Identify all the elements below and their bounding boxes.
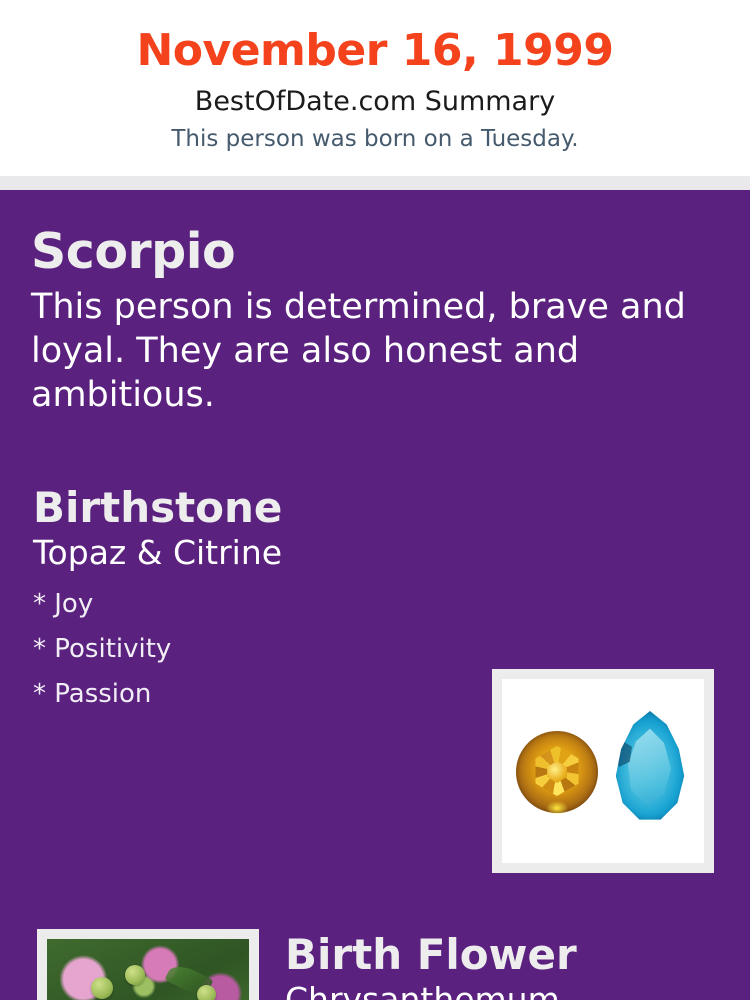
- birthstone-section: Birthstone Topaz & Citrine * Joy * Posit…: [33, 482, 463, 717]
- weekday-statement: This person was born on a Tuesday.: [0, 122, 750, 156]
- page-header: November 16, 1999 BestOfDate.com Summary…: [0, 0, 750, 176]
- flower-bud: [91, 977, 113, 999]
- flower-bud: [197, 985, 216, 1000]
- birthstone-traits-list: * Joy * Positivity * Passion: [33, 582, 463, 717]
- site-subtitle: BestOfDate.com Summary: [0, 82, 750, 122]
- list-item: * Positivity: [33, 627, 463, 672]
- list-item: * Joy: [33, 582, 463, 627]
- zodiac-sign-name: Scorpio: [31, 223, 721, 281]
- zodiac-section: Scorpio This person is determined, brave…: [31, 223, 721, 417]
- birth-flower-section: Birth Flower Chrysanthemum * Loyalty * H…: [285, 929, 725, 1000]
- zodiac-description: This person is determined, brave and loy…: [31, 285, 696, 417]
- birthstone-image-frame: [492, 669, 714, 873]
- flower-bud: [125, 965, 145, 985]
- birth-flower-name: Chrysanthemum: [285, 979, 725, 1000]
- list-item: * Passion: [33, 672, 463, 717]
- summary-panel: Scorpio This person is determined, brave…: [0, 190, 750, 1000]
- citrine-highlight: [546, 801, 568, 815]
- birth-flower-image-frame: [37, 929, 259, 1000]
- birthstone-name: Topaz & Citrine: [33, 532, 463, 574]
- birth-flower-heading: Birth Flower: [285, 929, 725, 981]
- birthstone-heading: Birthstone: [33, 482, 463, 534]
- header-divider: [0, 176, 750, 190]
- blue-topaz-gem-icon: [612, 711, 688, 823]
- birthstone-photo: [502, 679, 704, 863]
- birth-flower-photo: [47, 939, 249, 1000]
- page-title-date: November 16, 1999: [0, 22, 750, 80]
